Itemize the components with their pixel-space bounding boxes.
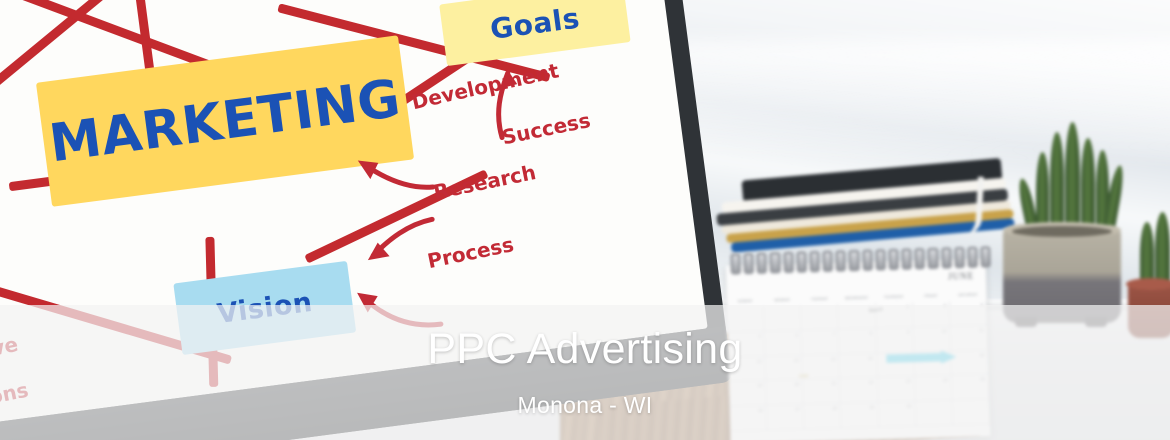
arrow-left-icon — [346, 207, 442, 273]
cactus-stem — [1050, 132, 1064, 232]
spiral-ring — [796, 251, 807, 272]
spiral-ring — [875, 249, 886, 270]
spiral-ring — [822, 251, 833, 272]
sticky-note-label: Goals — [488, 1, 581, 45]
spiral-ring — [809, 251, 820, 272]
spiral-ring — [941, 247, 952, 268]
spiral-ring — [915, 248, 926, 269]
spiral-ring — [783, 252, 794, 273]
spiral-ring — [744, 253, 755, 274]
arrow-up-icon — [463, 58, 543, 146]
cactus-stem — [1081, 138, 1095, 233]
spiral-ring — [967, 247, 978, 268]
spiral-ring — [730, 253, 741, 274]
spiral-ring — [901, 248, 912, 269]
spiral-ring — [757, 253, 768, 274]
spiral-ring — [954, 247, 965, 268]
spiral-ring — [770, 252, 781, 273]
plant-pot-small-rim — [1126, 278, 1170, 290]
spiral-ring — [980, 246, 991, 267]
cactus-stem — [1155, 212, 1170, 288]
spiral-ring — [862, 250, 873, 271]
spiral-ring — [849, 250, 860, 271]
sticky-note-goals: Goals — [439, 0, 631, 66]
handwritten-label-research: Research — [431, 160, 538, 204]
plant-pot-soil — [1012, 226, 1112, 237]
arrow-left-icon — [343, 142, 440, 213]
page-subtitle: Monona - WI — [0, 392, 1170, 419]
spiral-ring — [928, 248, 939, 269]
spiral-ring — [888, 249, 899, 270]
spiral-ring — [836, 250, 847, 271]
service-banner: MARKETING Goals Vision Success Developme… — [0, 0, 1170, 440]
page-title: PPC Advertising — [0, 325, 1170, 374]
calendar-month-label: JUNE — [948, 271, 974, 282]
cactus-stem — [1065, 122, 1080, 232]
